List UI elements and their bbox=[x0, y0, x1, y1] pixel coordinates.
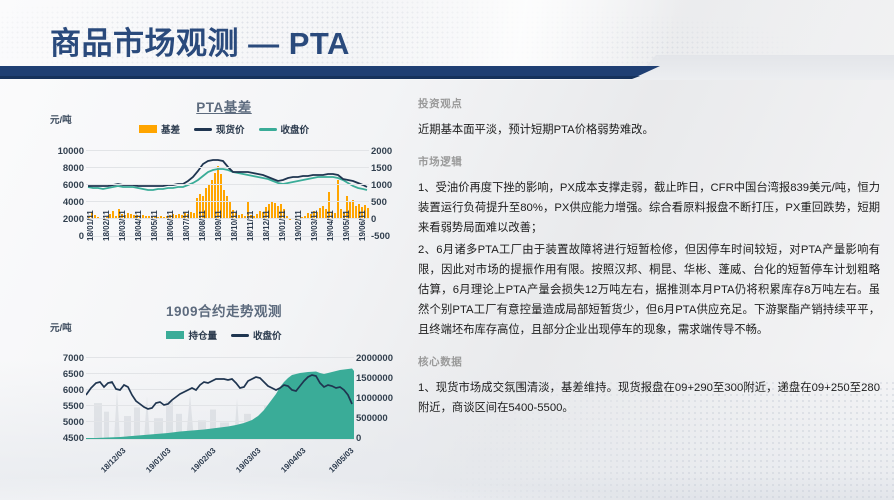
chart1-xtick-7: 18/08/11 bbox=[198, 210, 207, 241]
text-panel: 投资观点 近期基本面平淡，预计短期PTA价格弱势难改。 市场逻辑 1、受油价再度… bbox=[418, 96, 880, 432]
legend-swatch-area-icon bbox=[166, 331, 184, 339]
chart2-plot-area bbox=[86, 357, 354, 440]
chart1-series-close bbox=[88, 169, 367, 190]
chart2-legend: 持仓量 收盘价 bbox=[44, 328, 404, 342]
chart1-xtick-14: 19/03/11 bbox=[310, 210, 319, 241]
chart1-xtick-12: 19/01/11 bbox=[278, 210, 287, 241]
section-paragraph-market-logic-1: 2、6月诸多PTA工厂由于装置故障将进行短暂检修，但因停车时间较短，对PTA产量… bbox=[418, 240, 880, 340]
chart2-legend-item-close: 收盘价 bbox=[231, 328, 282, 342]
chart2-ytick-left-1: 6500 bbox=[40, 369, 84, 380]
chart2-xtick-1: 19/01/03 bbox=[144, 446, 172, 474]
chart1-ytick-right-4: 0 bbox=[371, 214, 376, 225]
chart-pta-basis: PTA基差 元/吨 基差 现货价 收盘价 10000 8000 6000 400… bbox=[44, 96, 404, 281]
chart2-xtick-2: 19/02/03 bbox=[189, 446, 217, 474]
chart1-xtick-4: 18/05/11 bbox=[150, 210, 159, 241]
chart1-xtick-11: 18/12/11 bbox=[262, 210, 271, 241]
chart2-ytick-right-4: 0 bbox=[356, 433, 361, 444]
header-accent-bar-shadow bbox=[0, 76, 640, 79]
section-heading-investment-view: 投资观点 bbox=[418, 96, 880, 111]
chart1-xtick-8: 18/09/11 bbox=[214, 210, 223, 241]
section-heading-market-logic: 市场逻辑 bbox=[418, 154, 880, 169]
chart2-xtick-5: 19/05/03 bbox=[327, 446, 355, 474]
legend-swatch-line3-icon bbox=[231, 334, 249, 337]
chart2-legend-label-0: 持仓量 bbox=[188, 328, 217, 342]
chart1-legend: 基差 现货价 收盘价 bbox=[44, 122, 404, 136]
chart2-ytick-right-0: 2000000 bbox=[356, 353, 393, 364]
chart1-series-spot bbox=[88, 160, 367, 187]
chart1-legend-item-close: 收盘价 bbox=[259, 122, 310, 136]
header-right-panel bbox=[634, 55, 894, 80]
section-market-logic: 市场逻辑 1、受油价再度下挫的影响，PX成本支撑走弱，截止昨日，CFR中国台湾报… bbox=[418, 154, 880, 340]
chart1-legend-label-0: 基差 bbox=[161, 122, 180, 136]
legend-swatch-line2-icon bbox=[259, 128, 277, 131]
chart1-xtick-6: 18/07/11 bbox=[182, 210, 191, 241]
chart2-ytick-right-2: 1000000 bbox=[356, 393, 393, 404]
chart1-xtick-0: 18/01/11 bbox=[86, 210, 95, 241]
chart1-legend-item-basis: 基差 bbox=[139, 122, 180, 136]
chart2-ytick-left-0: 7000 bbox=[40, 353, 84, 364]
chart1-ytick-left-0: 10000 bbox=[40, 146, 84, 157]
chart1-ytick-left-4: 2000 bbox=[40, 214, 84, 225]
chart1-ytick-right-5: -500 bbox=[371, 231, 390, 242]
chart1-ytick-right-3: 500 bbox=[371, 197, 387, 208]
chart2-svg bbox=[86, 357, 354, 440]
chart1-xtick-5: 18/06/11 bbox=[166, 210, 175, 241]
chart1-xtick-3: 18/04/11 bbox=[134, 210, 143, 241]
chart2-ytick-left-5: 4500 bbox=[40, 433, 84, 444]
chart2-ytick-right-1: 1500000 bbox=[356, 373, 393, 384]
chart2-xtick-3: 19/03/03 bbox=[234, 446, 262, 474]
chart1-xtick-13: 19/02/11 bbox=[294, 210, 303, 241]
section-heading-core-data: 核心数据 bbox=[418, 354, 880, 369]
chart1-legend-label-2: 收盘价 bbox=[281, 122, 310, 136]
chart1-title: PTA基差 bbox=[44, 96, 404, 116]
chart2-ytick-left-4: 5000 bbox=[40, 417, 84, 428]
section-investment-view: 投资观点 近期基本面平淡，预计短期PTA价格弱势难改。 bbox=[418, 96, 880, 140]
chart1-xtick-10: 18/11/11 bbox=[246, 211, 255, 241]
slide-root: 商品市场观测 — PTA PTA基差 元/吨 基差 现货价 收盘价 10000 … bbox=[0, 0, 894, 500]
chart1-ytick-right-1: 1500 bbox=[371, 163, 392, 174]
legend-swatch-bar-icon bbox=[139, 125, 157, 133]
chart1-xtick-15: 19/04/11 bbox=[326, 210, 335, 241]
chart2-xtick-0: 18/12/03 bbox=[99, 446, 127, 474]
chart1-xtick-1: 18/02/11 bbox=[102, 210, 111, 241]
legend-swatch-line-icon bbox=[194, 128, 212, 131]
chart1-legend-item-spot: 现货价 bbox=[194, 122, 245, 136]
chart1-xtick-2: 18/03/11 bbox=[118, 210, 127, 241]
chart2-xtick-4: 19/04/03 bbox=[279, 446, 307, 474]
chart2-legend-item-oi: 持仓量 bbox=[166, 328, 217, 342]
chart1-xtick-9: 18/10/11 bbox=[230, 210, 239, 241]
chart2-ytick-left-2: 6000 bbox=[40, 385, 84, 396]
chart2-ytick-left-3: 5500 bbox=[40, 401, 84, 412]
chart1-ytick-left-2: 6000 bbox=[40, 180, 84, 191]
chart1-xtick-16: 19/05/11 bbox=[342, 210, 351, 241]
section-paragraph-core-data-0: 1、现货市场成交氛围清淡，基差维持。现货报盘在09+290至300附近，递盘在0… bbox=[418, 378, 880, 418]
chart2-ytick-right-3: 500000 bbox=[356, 413, 388, 424]
chart1-ytick-left-5: 0 bbox=[40, 231, 84, 242]
chart2-legend-label-1: 收盘价 bbox=[253, 328, 282, 342]
section-paragraph-market-logic-0: 1、受油价再度下挫的影响，PX成本支撑走弱，截止昨日，CFR中国台湾报839美元… bbox=[418, 178, 880, 238]
chart1-ytick-right-0: 2000 bbox=[371, 146, 392, 157]
page-title: 商品市场观测 — PTA bbox=[50, 18, 350, 63]
chart2-title: 1909合约走势观测 bbox=[44, 300, 404, 320]
chart1-xtick-17: 19/06/11 bbox=[358, 210, 367, 241]
chart1-ytick-right-2: 1000 bbox=[371, 180, 392, 191]
section-core-data: 核心数据 1、现货市场成交氛围清淡，基差维持。现货报盘在09+290至300附近… bbox=[418, 354, 880, 418]
section-paragraph-investment-view-0: 近期基本面平淡，预计短期PTA价格弱势难改。 bbox=[418, 120, 880, 140]
chart1-ytick-left-1: 8000 bbox=[40, 163, 84, 174]
chart1-legend-label-1: 现货价 bbox=[216, 122, 245, 136]
chart1-ytick-left-3: 4000 bbox=[40, 197, 84, 208]
chart-contract-1909: 1909合约走势观测 元/吨 持仓量 收盘价 7000 6500 6000 55… bbox=[44, 300, 404, 495]
